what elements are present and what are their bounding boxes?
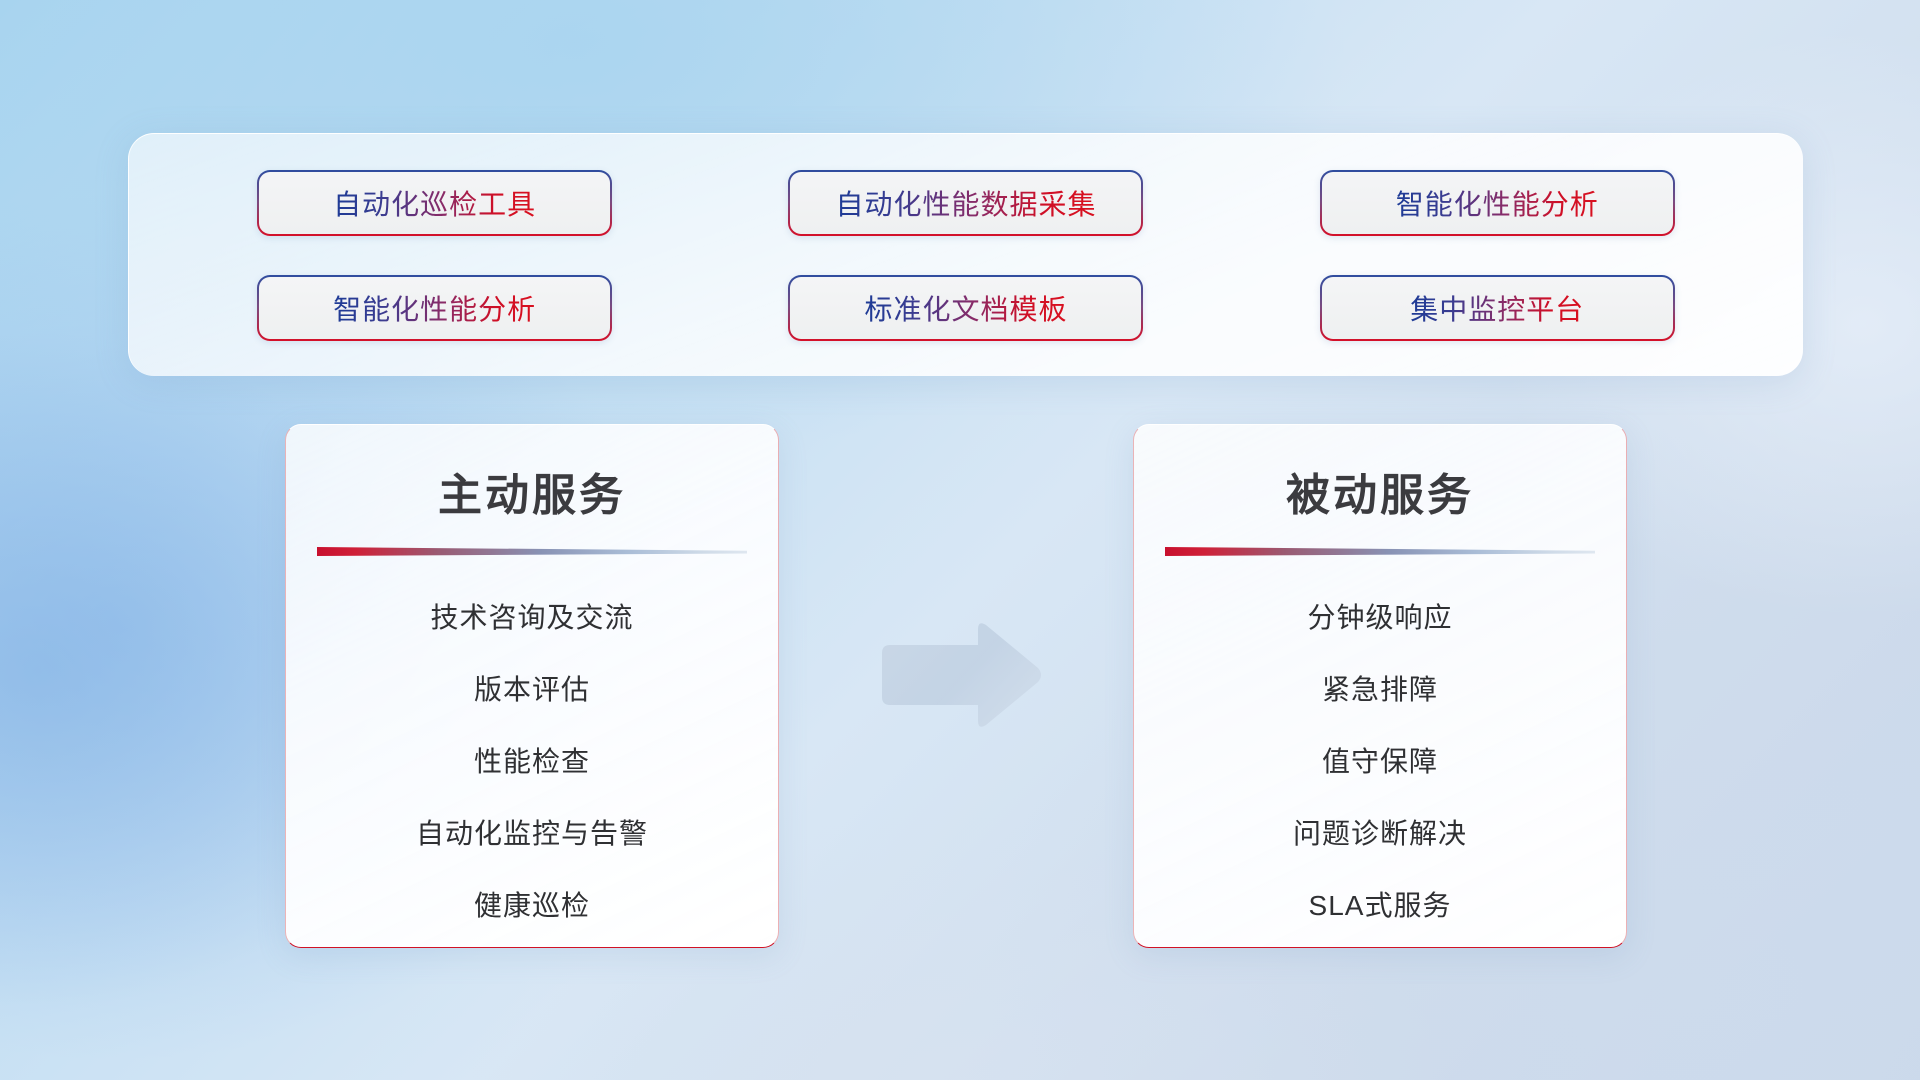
capability-pill-inner: 智能化性能分析 — [259, 277, 610, 339]
card-title: 主动服务 — [286, 459, 778, 523]
capability-pill-label: 标准化文档模板 — [864, 288, 1067, 328]
capability-pill-label: 自动化巡检工具 — [333, 183, 536, 223]
card-divider — [317, 547, 747, 556]
arrow-right-icon — [874, 620, 1044, 730]
list-item: 健康巡检 — [474, 884, 590, 924]
card-item-list: 分钟级响应 紧急排障 值守保障 问题诊断解决 SLA式服务 — [1134, 596, 1626, 924]
capability-pill-inner: 智能化性能分析 — [1322, 172, 1673, 234]
list-item: 技术咨询及交流 — [430, 596, 633, 636]
capability-pill[interactable]: 自动化性能数据采集 — [788, 170, 1143, 236]
list-item: SLA式服务 — [1309, 884, 1452, 924]
capability-pill[interactable]: 自动化巡检工具 — [257, 170, 612, 236]
list-item: 问题诊断解决 — [1293, 812, 1467, 852]
capability-pill-inner: 自动化性能数据采集 — [790, 172, 1141, 234]
list-item: 性能检查 — [474, 740, 590, 780]
capability-panel: 自动化巡检工具 自动化性能数据采集 智能化性能分析 智能化性能分析 标准化文档模… — [128, 133, 1803, 376]
capability-pill-inner: 标准化文档模板 — [790, 277, 1141, 339]
list-item: 自动化监控与告警 — [416, 812, 648, 852]
capability-pill-label: 智能化性能分析 — [1396, 183, 1599, 223]
capability-pill[interactable]: 智能化性能分析 — [257, 275, 612, 341]
capability-pill-inner: 自动化巡检工具 — [259, 172, 610, 234]
capability-pill[interactable]: 标准化文档模板 — [788, 275, 1143, 341]
service-card-reactive: 被动服务 分钟级响应 紧急排障 值守保障 问题诊断解决 SLA式服务 — [1133, 424, 1627, 948]
capability-pill-grid: 自动化巡检工具 自动化性能数据采集 智能化性能分析 智能化性能分析 标准化文档模… — [129, 134, 1803, 376]
list-item: 版本评估 — [474, 668, 590, 708]
card-item-list: 技术咨询及交流 版本评估 性能检查 自动化监控与告警 健康巡检 — [286, 596, 778, 924]
capability-pill-label: 集中监控平台 — [1410, 288, 1584, 328]
capability-pill[interactable]: 集中监控平台 — [1320, 275, 1675, 341]
capability-pill-label: 自动化性能数据采集 — [835, 183, 1096, 223]
card-title: 被动服务 — [1134, 459, 1626, 523]
list-item: 紧急排障 — [1322, 668, 1438, 708]
capability-pill-label: 智能化性能分析 — [333, 288, 536, 328]
service-card-proactive: 主动服务 技术咨询及交流 版本评估 性能检查 自动化监控与告警 健康巡检 — [285, 424, 779, 948]
capability-pill[interactable]: 智能化性能分析 — [1320, 170, 1675, 236]
list-item: 值守保障 — [1322, 740, 1438, 780]
list-item: 分钟级响应 — [1307, 596, 1452, 636]
card-divider — [1165, 547, 1595, 556]
capability-pill-inner: 集中监控平台 — [1322, 277, 1673, 339]
